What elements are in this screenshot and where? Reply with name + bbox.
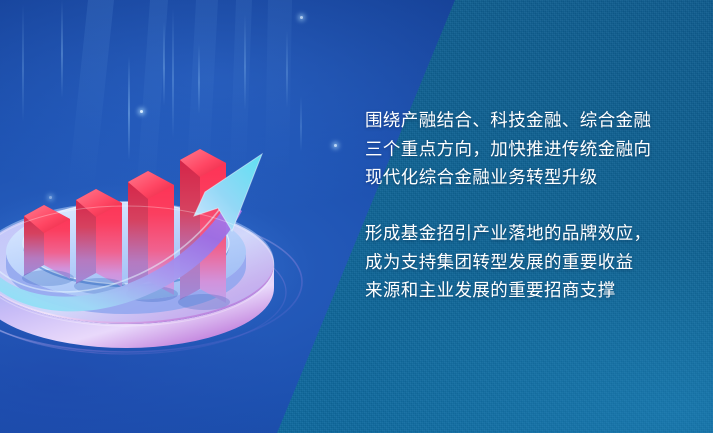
paragraph-2-line-2: 成为支持集团转型发展的重要收益 <box>365 248 651 277</box>
sparkle-dot <box>334 144 337 147</box>
sparkle-dot <box>300 16 303 19</box>
paragraph-1-line-2: 三个重点方向，加快推进传统金融向 <box>365 135 651 164</box>
headline-paragraph-1: 围绕产融结合、科技金融、综合金融 三个重点方向，加快推进传统金融向 现代化综合金… <box>365 106 651 192</box>
headline-paragraph-2: 形成基金招引产业落地的品牌效应， 成为支持集团转型发展的重要收益 来源和主业发展… <box>365 219 651 305</box>
paragraph-1-line-3: 现代化综合金融业务转型升级 <box>365 163 651 192</box>
paragraph-1-line-1: 围绕产融结合、科技金融、综合金融 <box>365 106 651 135</box>
paragraph-2-line-3: 来源和主业发展的重要招商支撑 <box>365 276 651 305</box>
growth-chart-illustration <box>0 96 322 362</box>
banner-canvas: 围绕产融结合、科技金融、综合金融 三个重点方向，加快推进传统金融向 现代化综合金… <box>0 0 713 433</box>
paragraph-2-line-1: 形成基金招引产业落地的品牌效应， <box>365 219 651 248</box>
bar-2 <box>76 189 122 287</box>
